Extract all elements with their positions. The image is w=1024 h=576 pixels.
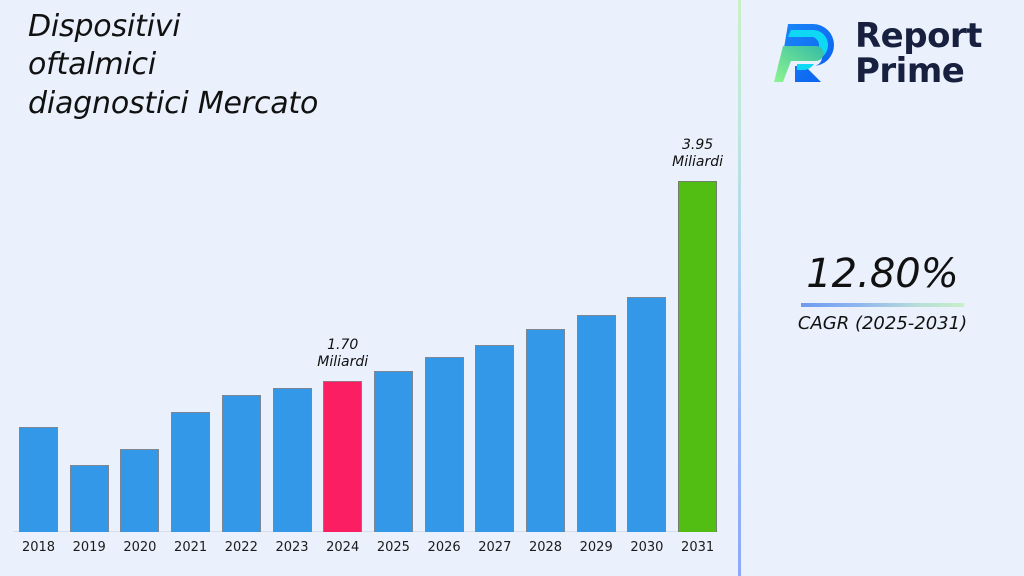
bar-2019[interactable] bbox=[70, 465, 109, 532]
cagr-block: 12.80% CAGR (2025-2031) bbox=[741, 252, 1024, 334]
bar-2021[interactable] bbox=[171, 412, 210, 532]
x-tick-label-2029: 2029 bbox=[569, 540, 624, 555]
brand-panel: Report Prime 12.80% CAGR (2025-2031) bbox=[741, 0, 1024, 576]
x-tick-label-2025: 2025 bbox=[366, 540, 421, 555]
x-tick-label-2021: 2021 bbox=[163, 540, 218, 555]
x-tick-label-2028: 2028 bbox=[518, 540, 573, 555]
bar-2022[interactable] bbox=[222, 395, 261, 532]
report-prime-logo-icon bbox=[771, 18, 843, 90]
bar-value-label-2031: 3.95 Miliardi bbox=[650, 137, 746, 170]
x-tick-label-2030: 2030 bbox=[619, 540, 674, 555]
x-tick-label-2019: 2019 bbox=[62, 540, 117, 555]
chart-panel: Dispositivi oftalmici diagnostici Mercat… bbox=[0, 0, 738, 576]
plot-area: 20182019202020212022202320241.70 Miliard… bbox=[0, 0, 738, 576]
x-tick-label-2026: 2026 bbox=[417, 540, 472, 555]
x-tick-label-2023: 2023 bbox=[265, 540, 320, 555]
brand-logo[interactable]: Report Prime bbox=[771, 12, 1021, 96]
bar-2028[interactable] bbox=[526, 329, 565, 532]
bar-2030[interactable] bbox=[627, 297, 666, 532]
x-tick-label-2018: 2018 bbox=[11, 540, 66, 555]
cagr-value: 12.80% bbox=[741, 252, 1024, 296]
bar-value-label-2024: 1.70 Miliardi bbox=[295, 337, 391, 370]
chart-infographic: Dispositivi oftalmici diagnostici Mercat… bbox=[0, 0, 1024, 576]
bar-2027[interactable] bbox=[475, 345, 514, 532]
x-tick-label-2031: 2031 bbox=[670, 540, 725, 555]
bar-2029[interactable] bbox=[577, 315, 616, 532]
brand-name: Report Prime bbox=[855, 19, 982, 88]
x-tick-label-2022: 2022 bbox=[214, 540, 269, 555]
cagr-caption: CAGR (2025-2031) bbox=[741, 313, 1024, 334]
x-tick-label-2020: 2020 bbox=[112, 540, 167, 555]
bar-2031[interactable] bbox=[678, 181, 717, 532]
bar-2025[interactable] bbox=[374, 371, 413, 532]
bar-2026[interactable] bbox=[425, 357, 464, 532]
x-tick-label-2027: 2027 bbox=[467, 540, 522, 555]
bar-2024[interactable] bbox=[323, 381, 362, 532]
bar-2020[interactable] bbox=[120, 449, 159, 532]
cagr-divider bbox=[801, 303, 964, 307]
bar-2018[interactable] bbox=[19, 427, 58, 532]
x-tick-label-2024: 2024 bbox=[315, 540, 370, 555]
bar-2023[interactable] bbox=[273, 388, 312, 532]
